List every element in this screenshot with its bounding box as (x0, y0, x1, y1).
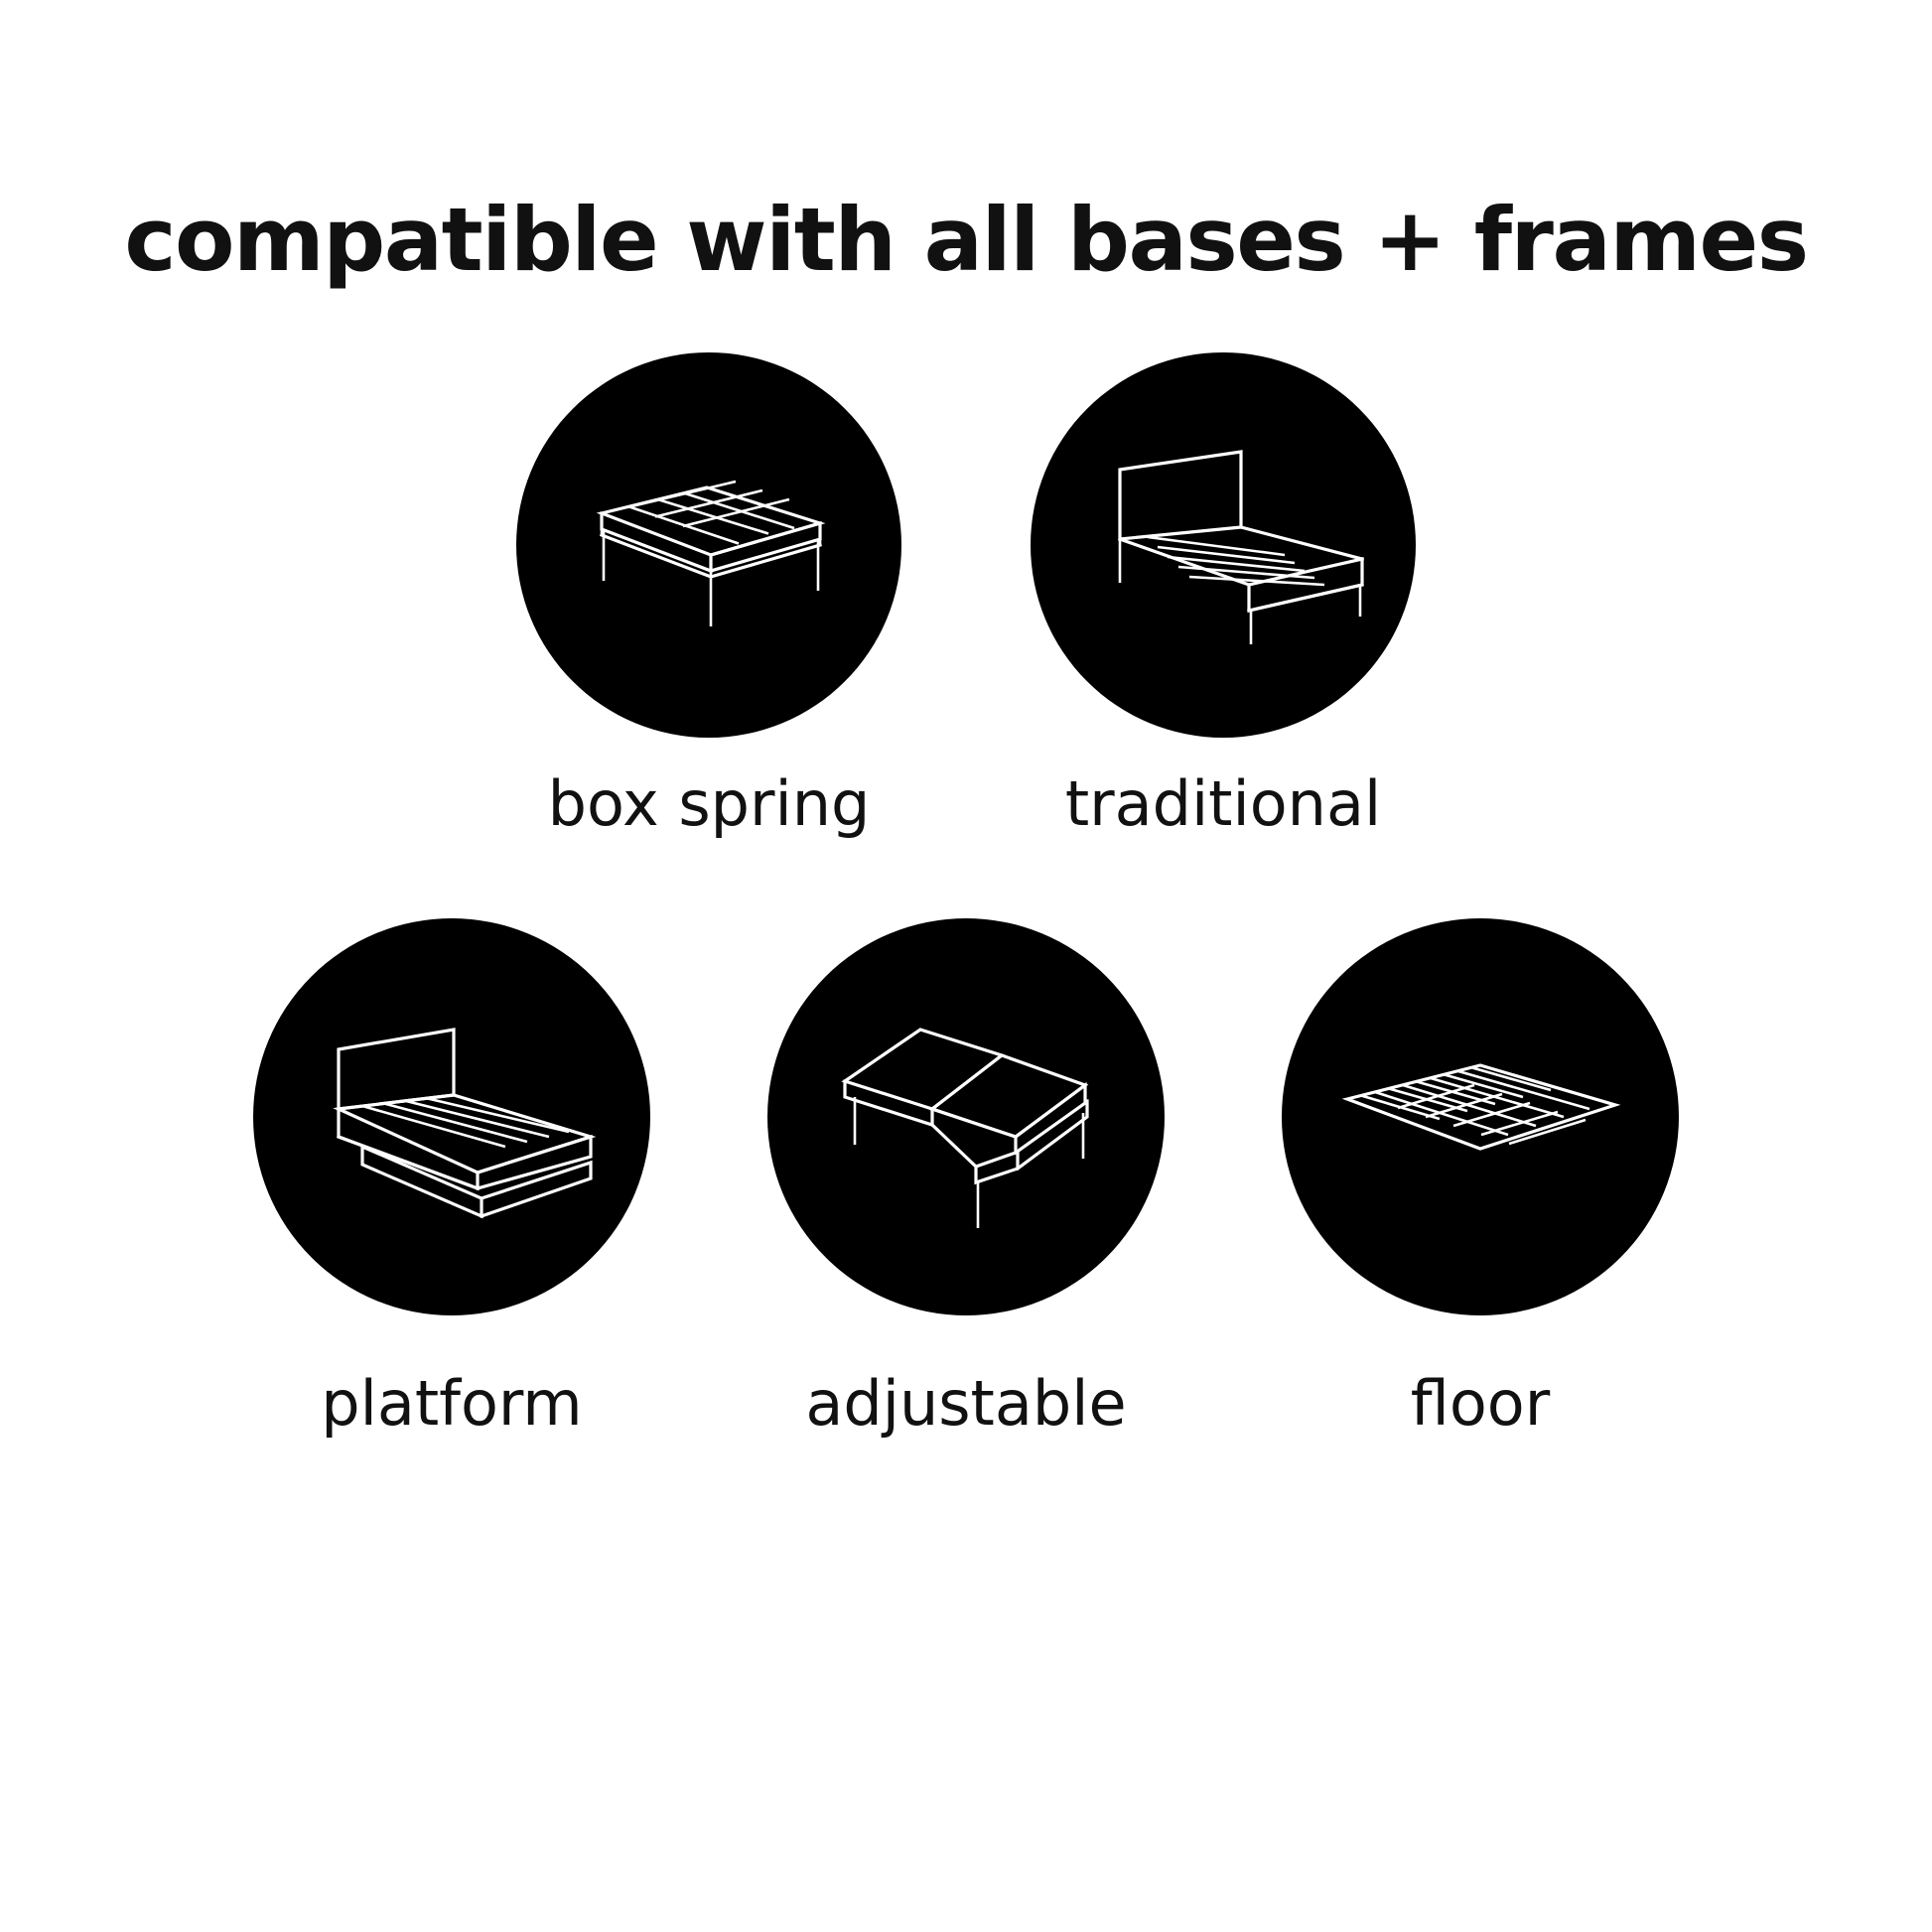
item-label: floor (1411, 1373, 1550, 1435)
item-label: box spring (548, 773, 871, 835)
adjustable-base-icon (817, 968, 1115, 1266)
traditional-bed-icon (1074, 396, 1372, 694)
item-traditional[interactable]: traditional (1031, 352, 1416, 835)
item-platform[interactable]: platform (253, 918, 650, 1435)
item-label: platform (321, 1373, 582, 1435)
floor-badge[interactable] (1282, 918, 1679, 1315)
adjustable-badge[interactable] (767, 918, 1165, 1315)
item-floor[interactable]: floor (1282, 918, 1679, 1435)
badge-row-bottom: platform (0, 918, 1932, 1435)
box-spring-badge[interactable] (516, 352, 901, 738)
page-title: compatible with all bases + frames (0, 195, 1932, 286)
item-label: adjustable (805, 1373, 1126, 1435)
platform-bed-icon (303, 968, 601, 1266)
item-adjustable[interactable]: adjustable (767, 918, 1165, 1435)
platform-badge[interactable] (253, 918, 650, 1315)
item-label: traditional (1065, 773, 1381, 835)
badge-row-top: box spring (0, 352, 1932, 835)
item-box-spring[interactable]: box spring (516, 352, 901, 835)
box-spring-icon (560, 396, 858, 694)
floor-icon (1331, 968, 1629, 1266)
infographic-page: compatible with all bases + frames (0, 0, 1932, 1932)
traditional-badge[interactable] (1031, 352, 1416, 738)
